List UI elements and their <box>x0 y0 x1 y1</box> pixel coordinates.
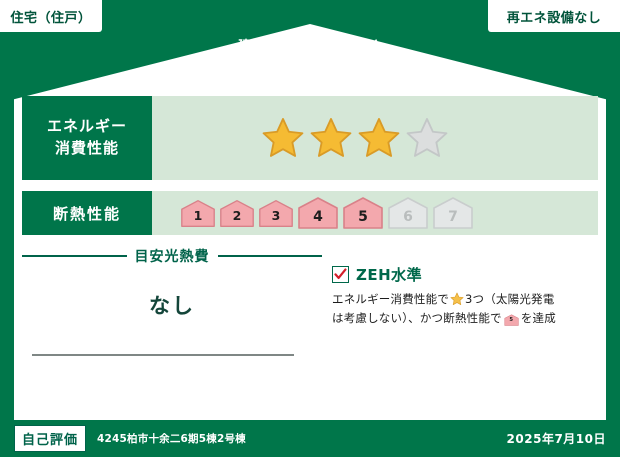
tag-building-type-label: 住宅（住戸） <box>10 7 91 26</box>
utility-cost-heading: 目安光熱費 <box>22 246 322 266</box>
utility-cost-block: 目安光熱費 なし <box>22 246 322 356</box>
checkbox-zeh[interactable] <box>332 266 349 283</box>
zeh-desc-stars: 3つ（太陽光発電 <box>465 292 554 306</box>
issue-date: 2025年7月10日 <box>507 430 606 447</box>
row-insulation-performance: 断熱性能 1234567 <box>22 191 598 235</box>
insulation-chip-1: 1 <box>180 199 216 228</box>
insulation-chip-value: 5 <box>342 209 384 225</box>
utility-cost-heading-text: 目安光熱費 <box>135 246 210 266</box>
zeh-desc-part3: を達成 <box>521 311 556 325</box>
row-energy-performance: エネルギー 消費性能 <box>22 96 598 180</box>
insulation-chip-2: 2 <box>219 199 255 228</box>
insulation-chip-7: 7 <box>432 196 474 230</box>
insulation-grade-scale: 1234567 <box>152 191 598 235</box>
lower-section: 目安光熱費 なし ZEH水準 エネルギー消費性能で3つ（太陽光発電 は考慮しない… <box>22 246 598 356</box>
insulation-chip-4: 4 <box>297 196 339 230</box>
star-icon-inline <box>450 292 464 306</box>
row-insulation-label: 断熱性能 <box>22 191 152 235</box>
check-icon <box>334 268 347 281</box>
tag-renewable-energy: 再エネ設備なし <box>488 0 620 32</box>
utility-cost-underline <box>32 354 294 356</box>
star-icon-filled <box>357 116 401 160</box>
row-insulation-label-text: 断熱性能 <box>53 203 121 224</box>
insulation-chip-value: 7 <box>432 209 474 225</box>
insulation-chip-value: 2 <box>219 208 255 223</box>
star-icon-empty <box>405 116 449 160</box>
rule-left <box>22 255 127 257</box>
property-address: 4245柏市十余二6期5棟2号棟 <box>97 431 246 446</box>
rule-right <box>218 255 323 257</box>
insulation-chip-value: 1 <box>180 208 216 223</box>
insulation-chip-inline: 5 <box>504 315 519 329</box>
row-energy-label-line1: エネルギー <box>47 116 127 138</box>
zeh-desc-part2: は考慮しない）、かつ断熱性能で <box>332 311 502 325</box>
insulation-chip-6: 6 <box>387 196 429 230</box>
row-energy-label-line2: 消費性能 <box>47 138 127 160</box>
tag-renewable-energy-label: 再エネ設備なし <box>507 7 602 26</box>
zeh-block: ZEH水準 エネルギー消費性能で3つ（太陽光発電 は考慮しない）、かつ断熱性能で… <box>322 246 598 356</box>
energy-star-rating <box>152 96 598 180</box>
tag-building-type: 住宅（住戸） <box>0 0 102 32</box>
utility-cost-value: なし <box>22 290 322 320</box>
zeh-title: ZEH水準 <box>356 264 422 285</box>
label-content: エネルギー 消費性能 断熱性能 1234567 目安光熱費 なし <box>22 96 598 356</box>
status-badge-self-evaluation: 自己評価 <box>14 425 86 452</box>
star-icon-filled <box>261 116 305 160</box>
insulation-chip-value: 4 <box>297 209 339 225</box>
insulation-chip-value: 6 <box>387 209 429 225</box>
insulation-chip-5: 5 <box>342 196 384 230</box>
footer-bar: 自己評価 4245柏市十余二6期5棟2号棟 2025年7月10日 <box>0 420 620 457</box>
zeh-heading: ZEH水準 <box>332 264 598 285</box>
insulation-chip-3: 3 <box>258 199 294 228</box>
insulation-chip-value: 3 <box>258 208 294 223</box>
zeh-desc-part1: エネルギー消費性能で <box>332 292 449 306</box>
zeh-description: エネルギー消費性能で3つ（太陽光発電 は考慮しない）、かつ断熱性能で5を達成 <box>332 290 598 332</box>
insulation-chip-value: 5 <box>504 316 519 325</box>
star-icon-filled <box>309 116 353 160</box>
insulation-chip-5: 5 <box>504 314 519 326</box>
row-energy-label: エネルギー 消費性能 <box>22 96 152 180</box>
